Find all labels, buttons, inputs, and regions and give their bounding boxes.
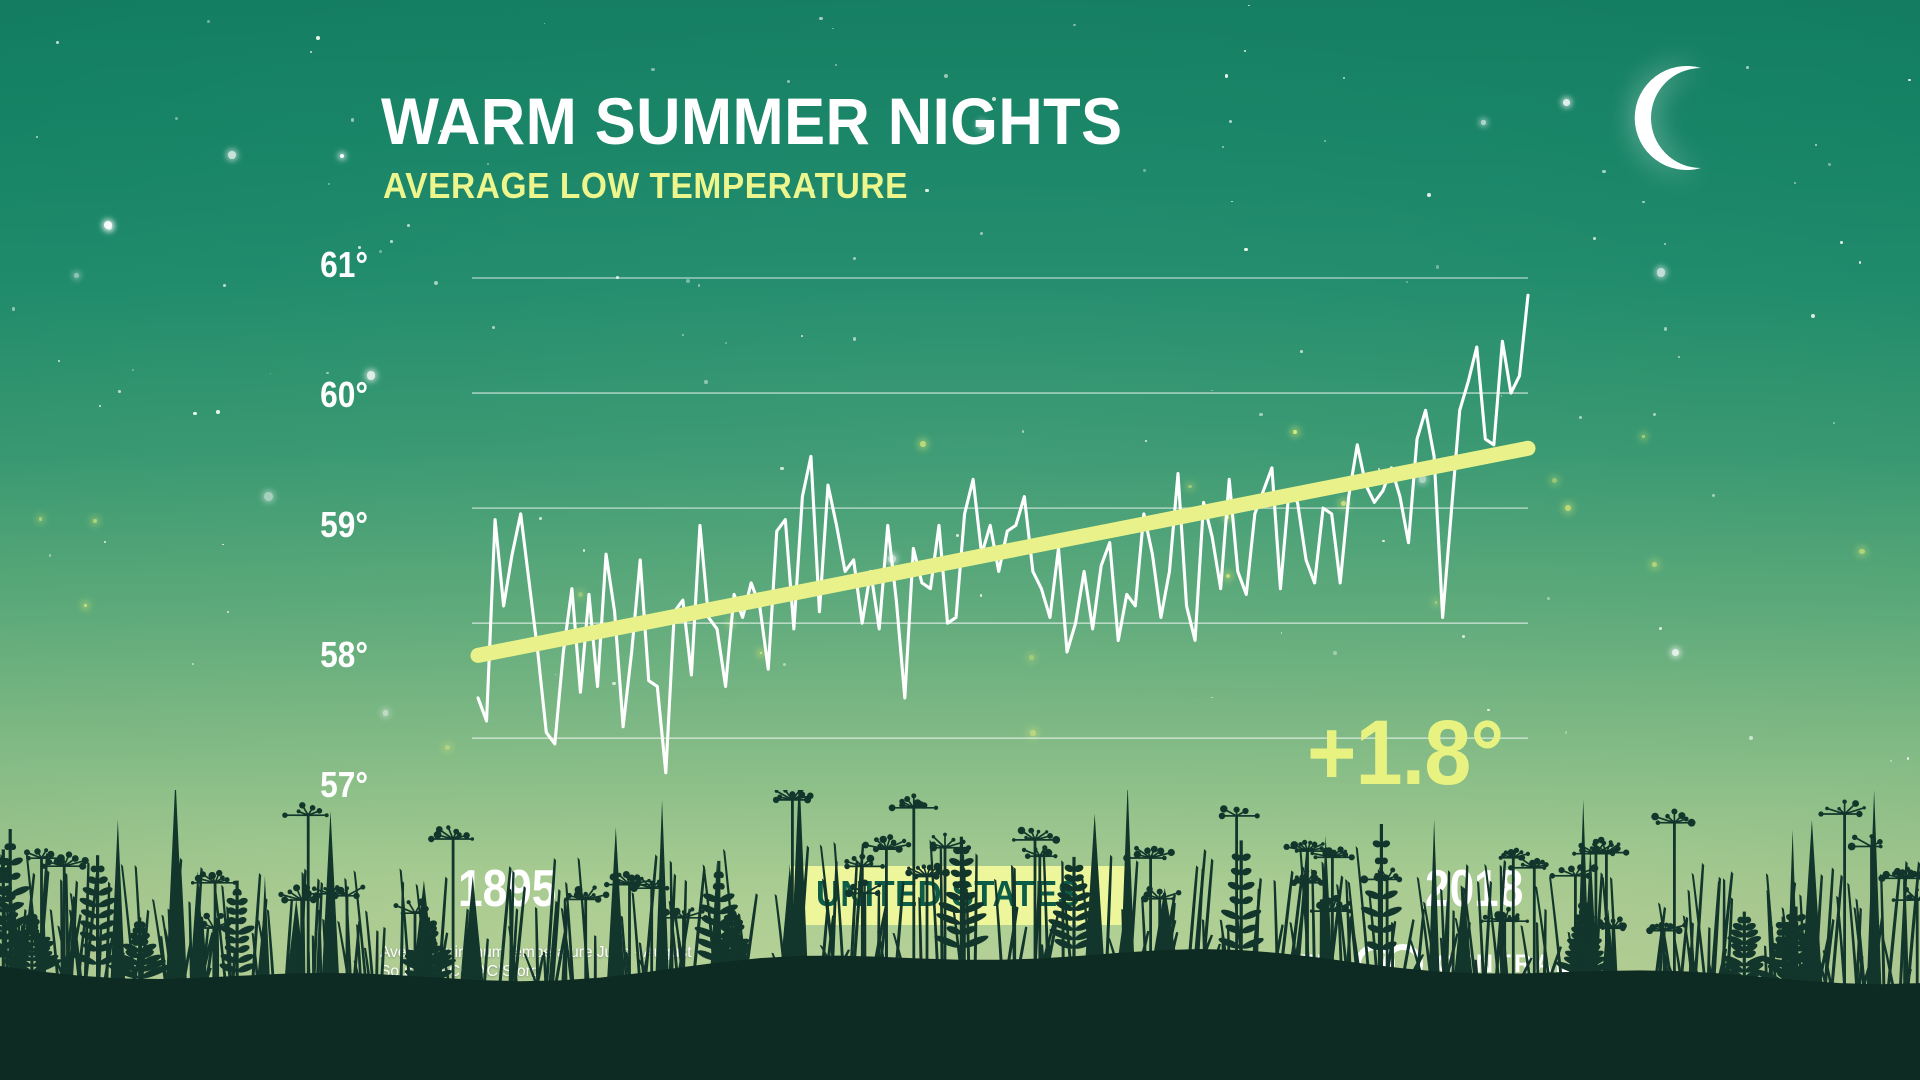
flower-head: [777, 795, 782, 800]
flower-head: [665, 886, 670, 891]
flower-head: [1559, 867, 1565, 873]
conifer-silhouette: [1429, 819, 1440, 973]
flower-head: [1168, 849, 1175, 856]
flower-stem: [628, 885, 631, 982]
flower-head: [1037, 830, 1041, 834]
flower-head: [1659, 922, 1665, 928]
flower-head: [26, 856, 31, 861]
flower-head: [1134, 846, 1139, 851]
flower-head: [1869, 834, 1873, 838]
flower-head: [1220, 805, 1227, 812]
flower-head: [46, 859, 52, 865]
flower-head: [1396, 877, 1402, 883]
flower-stem: [650, 888, 653, 980]
flower-head: [880, 864, 885, 869]
flower-head: [1034, 847, 1038, 851]
star-dot: [1547, 597, 1550, 600]
flower-head: [1577, 864, 1583, 870]
firefly-dot: [39, 517, 43, 521]
grass-blade: [692, 867, 705, 977]
flower-head: [312, 886, 317, 891]
firefly-dot: [445, 745, 450, 750]
flower-stem: [1870, 847, 1873, 989]
star-dot: [1890, 760, 1892, 762]
flower-head: [875, 890, 881, 896]
star-dot: [193, 412, 196, 415]
flower-head: [869, 862, 873, 866]
flower-head: [1028, 828, 1034, 834]
flower-head: [1568, 866, 1575, 873]
flower-stem: [791, 800, 794, 972]
flower-head: [278, 892, 283, 897]
flower-head: [72, 855, 79, 862]
flower-head: [1151, 846, 1158, 853]
flower-head: [896, 846, 903, 853]
star-dot: [390, 240, 393, 243]
star-dot: [383, 710, 388, 715]
star-dot: [36, 136, 38, 138]
flower-stem: [63, 866, 66, 979]
flower-head: [394, 903, 399, 908]
flower-head: [44, 848, 48, 852]
flower-head: [463, 832, 470, 839]
star-dot: [1563, 99, 1570, 106]
grass-blade: [1043, 846, 1050, 963]
flower-head: [1162, 856, 1167, 861]
flower-stem: [214, 883, 217, 987]
flower-head: [1598, 837, 1605, 844]
flower-head: [592, 885, 596, 889]
flower-head: [1308, 841, 1312, 845]
flower-head: [423, 906, 429, 912]
flower-head: [902, 839, 906, 843]
fern-leaflet: [236, 952, 254, 965]
flower-head: [59, 858, 65, 864]
flower-head: [47, 851, 54, 858]
star-dot: [228, 151, 236, 159]
flower-head: [220, 875, 225, 880]
flower-head: [1825, 807, 1829, 811]
star-dot: [1746, 66, 1749, 69]
flower-head: [931, 842, 936, 847]
grass-blade: [1477, 881, 1485, 978]
flower-head: [288, 890, 293, 895]
flower-head: [934, 806, 938, 810]
flower-head: [360, 885, 365, 890]
flower-head: [1591, 864, 1599, 872]
flower-head: [216, 870, 222, 876]
flower-head: [922, 864, 927, 869]
star-dot: [1811, 314, 1815, 318]
fern-leaflet: [97, 885, 114, 897]
flower-head: [1519, 850, 1523, 854]
fern-leaflet: [97, 896, 117, 909]
star-dot: [207, 20, 210, 23]
flower-head: [1325, 847, 1333, 855]
flower-head: [1852, 800, 1859, 807]
flower-head: [79, 863, 86, 870]
fern-leaflet: [718, 892, 736, 904]
flower-head: [844, 864, 850, 870]
flower-stem: [861, 866, 864, 968]
flower-head: [310, 805, 316, 811]
grass-blade: [1013, 867, 1016, 964]
flower-head: [194, 926, 198, 930]
flower-head: [640, 877, 644, 881]
flower-head: [200, 871, 206, 877]
star-dot: [316, 36, 320, 40]
flower-head: [804, 796, 811, 803]
flower-head: [218, 913, 224, 919]
flower-head: [610, 874, 617, 881]
flower-head: [951, 838, 955, 842]
flower-head: [191, 881, 195, 885]
flower-head: [41, 864, 46, 869]
flower-head: [1903, 887, 1909, 893]
flower-head: [1333, 895, 1340, 902]
flower-head: [422, 911, 426, 915]
y-axis-label-59: 59°: [289, 507, 368, 543]
flower-head: [24, 849, 30, 855]
flower-head: [1842, 800, 1846, 804]
conifer-silhouette: [1085, 813, 1104, 961]
flower-head: [1611, 919, 1616, 924]
star-dot: [1833, 422, 1835, 424]
firefly-dot: [1642, 435, 1645, 438]
flower-head: [564, 898, 568, 902]
flower-head: [1310, 851, 1314, 855]
flower-stem: [1034, 840, 1037, 963]
flower-head: [1676, 927, 1683, 934]
flower-head: [1892, 898, 1896, 902]
flower-head: [1883, 871, 1890, 878]
star-dot: [1565, 731, 1567, 733]
flower-head: [1022, 848, 1026, 852]
flower-stem: [1306, 851, 1309, 969]
y-axis-label-61: 61°: [289, 247, 368, 283]
flower-head: [1298, 842, 1303, 847]
fern-leaflet: [945, 924, 962, 936]
fern-leaflet: [80, 907, 98, 920]
foreground-silhouette: [0, 790, 1920, 1080]
star-dot: [216, 410, 220, 414]
flower-head: [617, 873, 621, 877]
page-title: WARM SUMMER NIGHTS: [381, 88, 1122, 154]
grass-blade: [1018, 927, 1027, 964]
star-dot: [1343, 77, 1345, 79]
flower-head: [1656, 820, 1661, 825]
flower-head: [1508, 865, 1513, 870]
grass-blade: [399, 881, 404, 989]
flower-head: [1302, 840, 1307, 845]
flower-head: [1234, 807, 1240, 813]
firefly-dot: [1652, 562, 1657, 567]
flower-head: [345, 886, 349, 890]
flower-head: [650, 881, 654, 885]
flower-head: [887, 834, 893, 840]
flower-head: [1623, 850, 1629, 856]
star-dot: [1828, 163, 1831, 166]
flower-head: [1360, 875, 1368, 883]
flower-head: [1390, 868, 1395, 873]
fern-leaflet: [935, 911, 962, 927]
flower-head: [1684, 817, 1689, 822]
flower-head: [1542, 866, 1546, 870]
star-dot: [328, 183, 330, 185]
trend-line: [478, 448, 1528, 655]
flower-head: [1848, 843, 1856, 851]
flower-head: [1320, 899, 1326, 905]
flower-head: [1325, 898, 1332, 905]
flower-head: [1550, 873, 1556, 879]
flower-head: [844, 859, 849, 864]
flower-head: [310, 897, 317, 904]
flower-stem: [1673, 823, 1676, 987]
star-dot: [832, 28, 834, 30]
flower-head: [1863, 806, 1866, 809]
flower-head: [1609, 840, 1613, 844]
star-dot: [1481, 120, 1485, 124]
flower-head: [1483, 915, 1488, 920]
flower-head: [1655, 924, 1659, 928]
flower-head: [330, 886, 334, 890]
flower-stem: [885, 849, 888, 967]
flower-head: [1123, 854, 1131, 862]
flower-stem: [1903, 878, 1906, 988]
star-dot: [1749, 736, 1753, 740]
flower-head: [1671, 809, 1677, 815]
flower-head: [1144, 847, 1151, 854]
flower-head: [1506, 907, 1511, 912]
flower-head: [911, 793, 916, 798]
flower-head: [332, 892, 339, 899]
flower-head: [418, 898, 425, 905]
flower-head: [1682, 923, 1687, 928]
flower-head: [1163, 893, 1166, 896]
flower-head: [1018, 827, 1026, 835]
fern-leaflet: [1381, 889, 1399, 902]
flower-head: [1480, 920, 1483, 923]
star-dot: [1143, 169, 1146, 172]
flower-head: [1837, 807, 1840, 810]
flower-head: [66, 851, 72, 857]
flower-head: [1319, 846, 1323, 850]
flower-head: [592, 893, 596, 897]
flower-head: [1299, 874, 1305, 880]
flower-head: [575, 886, 583, 894]
star-dot: [118, 390, 121, 393]
flower-head: [1877, 839, 1883, 845]
flower-head: [943, 833, 947, 837]
star-dot: [1593, 237, 1596, 240]
flower-head: [852, 856, 857, 861]
star-dot: [819, 17, 822, 20]
flower-head: [867, 855, 875, 863]
flower-head: [1157, 848, 1164, 855]
flower-head: [1651, 813, 1659, 821]
flower-head: [933, 873, 939, 879]
y-axis-label-60: 60°: [289, 377, 368, 413]
flower-head: [1617, 842, 1621, 846]
flower-head: [673, 908, 680, 915]
firefly-dot: [1552, 478, 1557, 483]
flower-head: [436, 826, 443, 833]
fern-stem: [960, 837, 963, 965]
flower-stem: [1149, 858, 1152, 964]
fern-leaflet: [1220, 908, 1242, 922]
flower-head: [690, 907, 694, 911]
fern-leaflet: [1073, 890, 1091, 903]
grass-blade: [1536, 922, 1540, 981]
flower-head: [1620, 925, 1626, 931]
flower-head: [1604, 917, 1608, 921]
flower-head: [325, 813, 329, 817]
flower-head: [1518, 856, 1523, 861]
flower-head: [566, 893, 572, 899]
flower-head: [595, 896, 602, 903]
flower-head: [317, 808, 323, 814]
flower-head: [1242, 808, 1248, 814]
flower-head: [1852, 835, 1857, 840]
flower-head: [224, 877, 229, 882]
flower-head: [1219, 813, 1226, 820]
flower-head: [293, 884, 300, 891]
firefly-dot: [93, 519, 97, 523]
flower-stem: [1533, 868, 1536, 981]
crescent-moon-icon: [1615, 62, 1727, 174]
flower-head: [1900, 869, 1906, 875]
flower-head: [1012, 838, 1016, 842]
star-dot: [132, 369, 134, 371]
flower-head: [1290, 841, 1298, 849]
flower-head: [281, 897, 288, 904]
conifer-silhouette: [1121, 790, 1134, 961]
flower-head: [927, 865, 933, 871]
star-dot: [58, 360, 60, 362]
grass-blade: [918, 897, 922, 966]
flower-head: [942, 869, 950, 877]
star-dot: [264, 492, 273, 501]
flower-head: [1526, 920, 1529, 923]
grass-blade: [632, 892, 642, 981]
flower-head: [1526, 852, 1530, 856]
flower-head: [1818, 811, 1823, 816]
flower-head: [299, 802, 305, 808]
y-axis-label-58: 58°: [289, 637, 368, 673]
flower-head: [1348, 909, 1352, 913]
flower-head: [682, 910, 685, 913]
flower-head: [282, 813, 287, 818]
flower-head: [1504, 850, 1508, 854]
flower-head: [297, 809, 301, 813]
star-dot: [1907, 757, 1909, 759]
flower-head: [428, 836, 434, 842]
flower-head: [1585, 873, 1591, 879]
flower-stem: [584, 899, 587, 983]
flower-head: [1052, 836, 1060, 844]
flower-head: [1318, 880, 1324, 886]
grass-blade: [594, 935, 597, 983]
flower-stem: [926, 877, 929, 966]
flower-head: [862, 842, 869, 849]
flower-head: [663, 909, 670, 916]
flower-head: [1665, 814, 1670, 819]
flower-stem: [1038, 856, 1041, 963]
flower-head: [1688, 819, 1696, 827]
flower-stem: [1503, 921, 1506, 979]
flower-head: [1047, 833, 1053, 839]
flower-ray: [1855, 837, 1872, 846]
flower-head: [905, 869, 912, 876]
star-dot: [434, 281, 438, 285]
flower-head: [878, 883, 882, 887]
star-dot: [1859, 261, 1862, 264]
flower-head: [1176, 890, 1181, 895]
flower-head: [1024, 836, 1027, 839]
flower-head: [1171, 897, 1174, 900]
flower-head: [401, 911, 405, 915]
flower-head: [859, 854, 865, 860]
flower-head: [1514, 848, 1519, 853]
flower-head: [1349, 854, 1355, 860]
conifer-silhouette: [607, 827, 624, 980]
grass-blade: [1484, 881, 1492, 979]
flower-stem: [912, 808, 915, 967]
flower-head: [1916, 888, 1919, 891]
star-dot: [222, 544, 224, 546]
flower-head: [1144, 891, 1151, 898]
flower-head: [1572, 852, 1576, 856]
flower-head: [634, 880, 642, 888]
flower-head: [1310, 909, 1313, 912]
flower-stem: [307, 815, 310, 988]
star-dot: [925, 189, 929, 193]
star-dot: [1222, 146, 1224, 148]
grass-blade: [1416, 908, 1425, 974]
grass-blade: [578, 857, 590, 983]
flower-stem: [1843, 814, 1846, 989]
flower-head: [880, 836, 887, 843]
flower-head: [604, 882, 609, 887]
flower-head: [208, 872, 216, 880]
flower-head: [906, 842, 911, 847]
flower-head: [583, 892, 588, 897]
flower-head: [1314, 855, 1318, 859]
flower-head: [1879, 845, 1883, 849]
grass-blade: [930, 840, 940, 966]
flower-head: [446, 825, 450, 829]
flower-head: [1856, 811, 1862, 817]
flower-stem: [452, 839, 455, 988]
flower-head: [1592, 842, 1597, 847]
flower-head: [907, 867, 910, 870]
infographic-canvas: WARM SUMMER NIGHTS AVERAGE LOW TEMPERATU…: [0, 0, 1920, 1080]
flower-head: [1255, 813, 1260, 818]
grass-blade: [994, 879, 1003, 964]
star-dot: [1908, 79, 1910, 81]
flower-head: [850, 884, 856, 890]
conifer-silhouette: [1867, 790, 1882, 986]
flower-head: [1617, 916, 1623, 922]
flower-head: [1134, 851, 1141, 858]
grass-blade: [483, 938, 489, 987]
flower-head: [1598, 919, 1603, 924]
flower-head: [1157, 889, 1163, 895]
flower-head: [603, 892, 610, 899]
firefly-dot: [1859, 549, 1864, 554]
fern-leaflet: [1241, 936, 1265, 951]
grass-blade: [1369, 895, 1379, 972]
